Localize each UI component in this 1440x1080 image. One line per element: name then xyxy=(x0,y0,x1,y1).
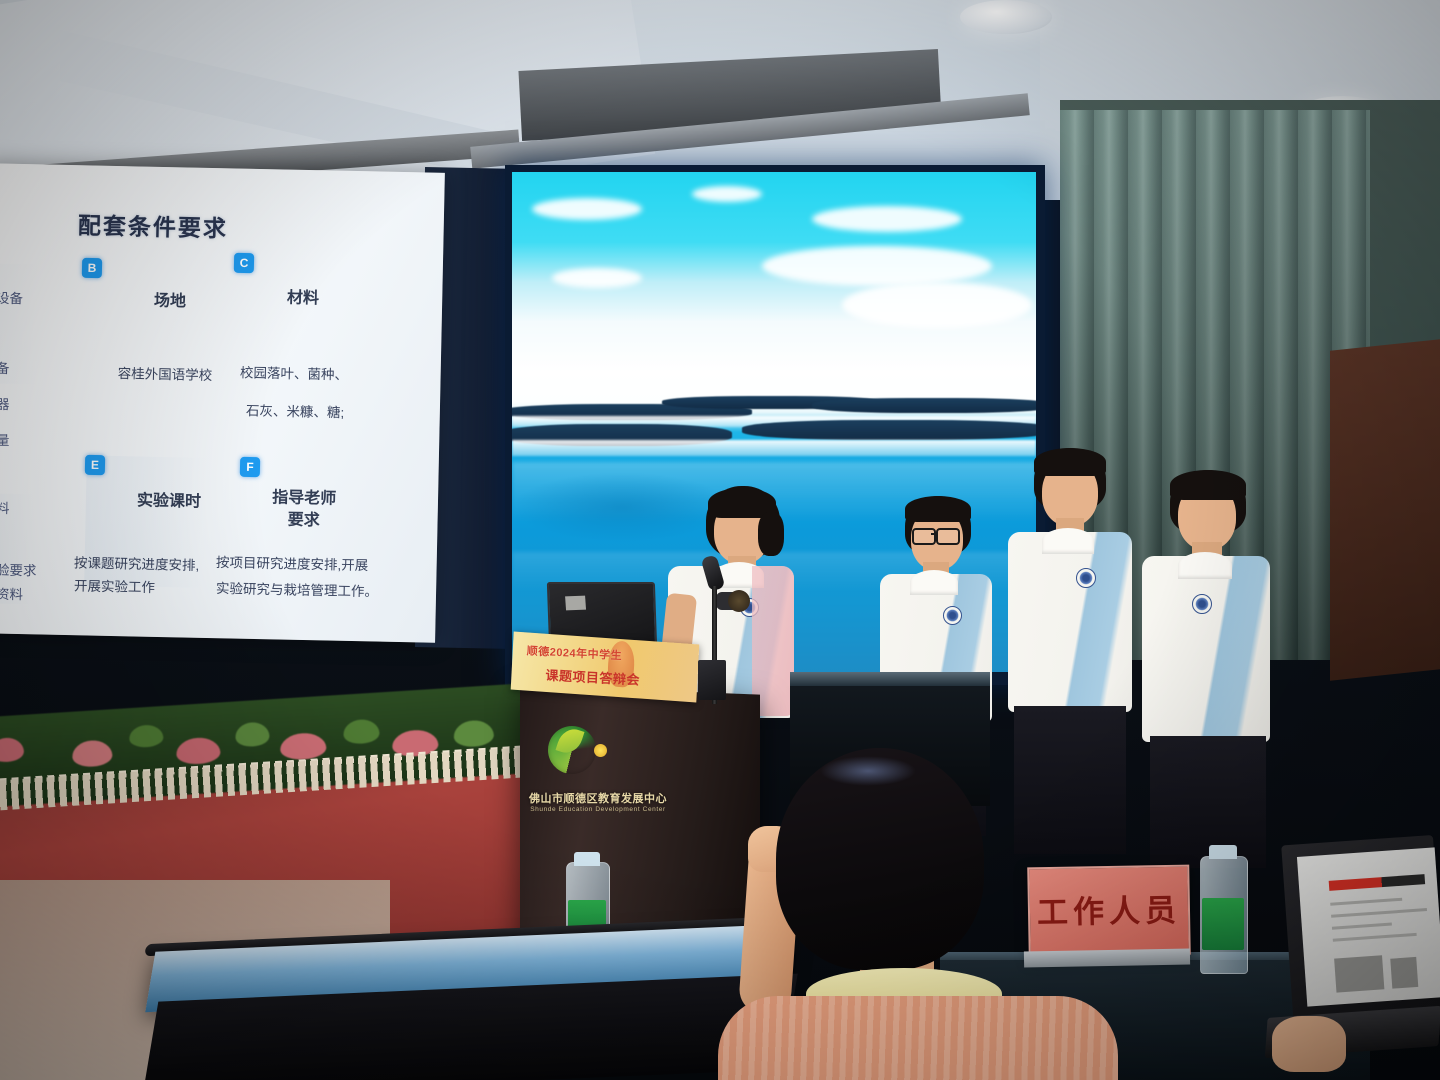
slide-badge-b: B xyxy=(82,258,102,278)
slide-card-c-body-1: 校园落叶、菌种、 xyxy=(240,360,410,389)
slide-card-e-body-2: 开展实验工作 xyxy=(74,573,225,602)
slide-badge-f: F xyxy=(240,457,260,477)
slide-card-b-heading: 场地 xyxy=(110,290,230,314)
slide-left-cut-text: 设备 xyxy=(0,286,23,312)
bottle-cap xyxy=(1209,845,1237,859)
side-table xyxy=(790,672,990,686)
hair-highlight xyxy=(820,756,916,786)
wood-wall-panel xyxy=(1330,339,1440,681)
slide-left-cut-text: 备 xyxy=(0,356,10,382)
school-crest-icon xyxy=(1076,568,1096,588)
slide-card-c-body-2: 石灰、米糠、糖; xyxy=(246,398,416,427)
placard-stand xyxy=(1024,949,1190,968)
slide-badge-e: E xyxy=(85,455,105,475)
slide-card-b-body: 容桂外国语学校 xyxy=(80,360,250,389)
podium-logo-text-en: Shunde Education Development Center xyxy=(528,806,668,813)
staff-placard-text: 工作人员 xyxy=(1030,885,1189,933)
slide-card-f-heading: 指导老师 要求 xyxy=(244,487,365,533)
ceiling-light-icon xyxy=(960,0,1052,34)
glasses-icon xyxy=(912,528,936,545)
bottle-cap xyxy=(574,852,600,866)
slide-badge-c: C xyxy=(234,253,254,273)
podium-banner-line1: 顺德2024年中学生 xyxy=(526,642,622,663)
photo-scene: 配套条件要求 设备 备 器 量 料 验要求 资料 B 场地 容桂外国语学校 C … xyxy=(0,0,1440,1080)
slide-card-c-heading: 材料 xyxy=(248,287,358,311)
bottle-label xyxy=(1202,898,1244,950)
slide-left-cut-text: 器 xyxy=(0,392,10,418)
school-crest-icon xyxy=(1192,594,1212,614)
slide-card-f-body-1: 按项目研究进度安排,开展 xyxy=(216,550,416,580)
glasses-icon xyxy=(936,528,960,545)
slide-card-e: E xyxy=(85,455,105,475)
slide-title: 配套条件要求 xyxy=(78,206,229,243)
slide-card-e-heading: 实验课时 xyxy=(104,490,234,514)
wristwatch-icon xyxy=(728,590,750,612)
slide-card-c: C xyxy=(234,253,254,273)
document-red-header xyxy=(1329,874,1425,891)
slide-card-b: B xyxy=(82,258,102,278)
slide-left-cut-text: 料 xyxy=(0,496,10,522)
microphone-receiver xyxy=(698,660,726,700)
typing-hand xyxy=(1272,1016,1346,1072)
slide-left-cut-text: 资料 xyxy=(0,582,23,608)
slide-left-cut-text: 验要求 xyxy=(0,558,37,584)
foreground-person-shirt xyxy=(718,996,1118,1080)
slide-left-cut-text: 量 xyxy=(0,428,10,454)
podium-logo-dot-icon xyxy=(594,744,607,757)
podium-logo-text-cn: 佛山市顺德区教育发展中心 xyxy=(528,790,668,806)
staff-placard: 工作人员 xyxy=(1027,865,1191,958)
right-laptop-screen[interactable] xyxy=(1297,847,1440,1006)
school-crest-icon xyxy=(943,606,962,625)
slide-card-f-body-2: 实验研究与栽培管理工作。 xyxy=(216,576,416,606)
podium-banner-line2: 课题项目答辩会 xyxy=(545,665,640,689)
slide-card-f: F xyxy=(240,457,260,477)
